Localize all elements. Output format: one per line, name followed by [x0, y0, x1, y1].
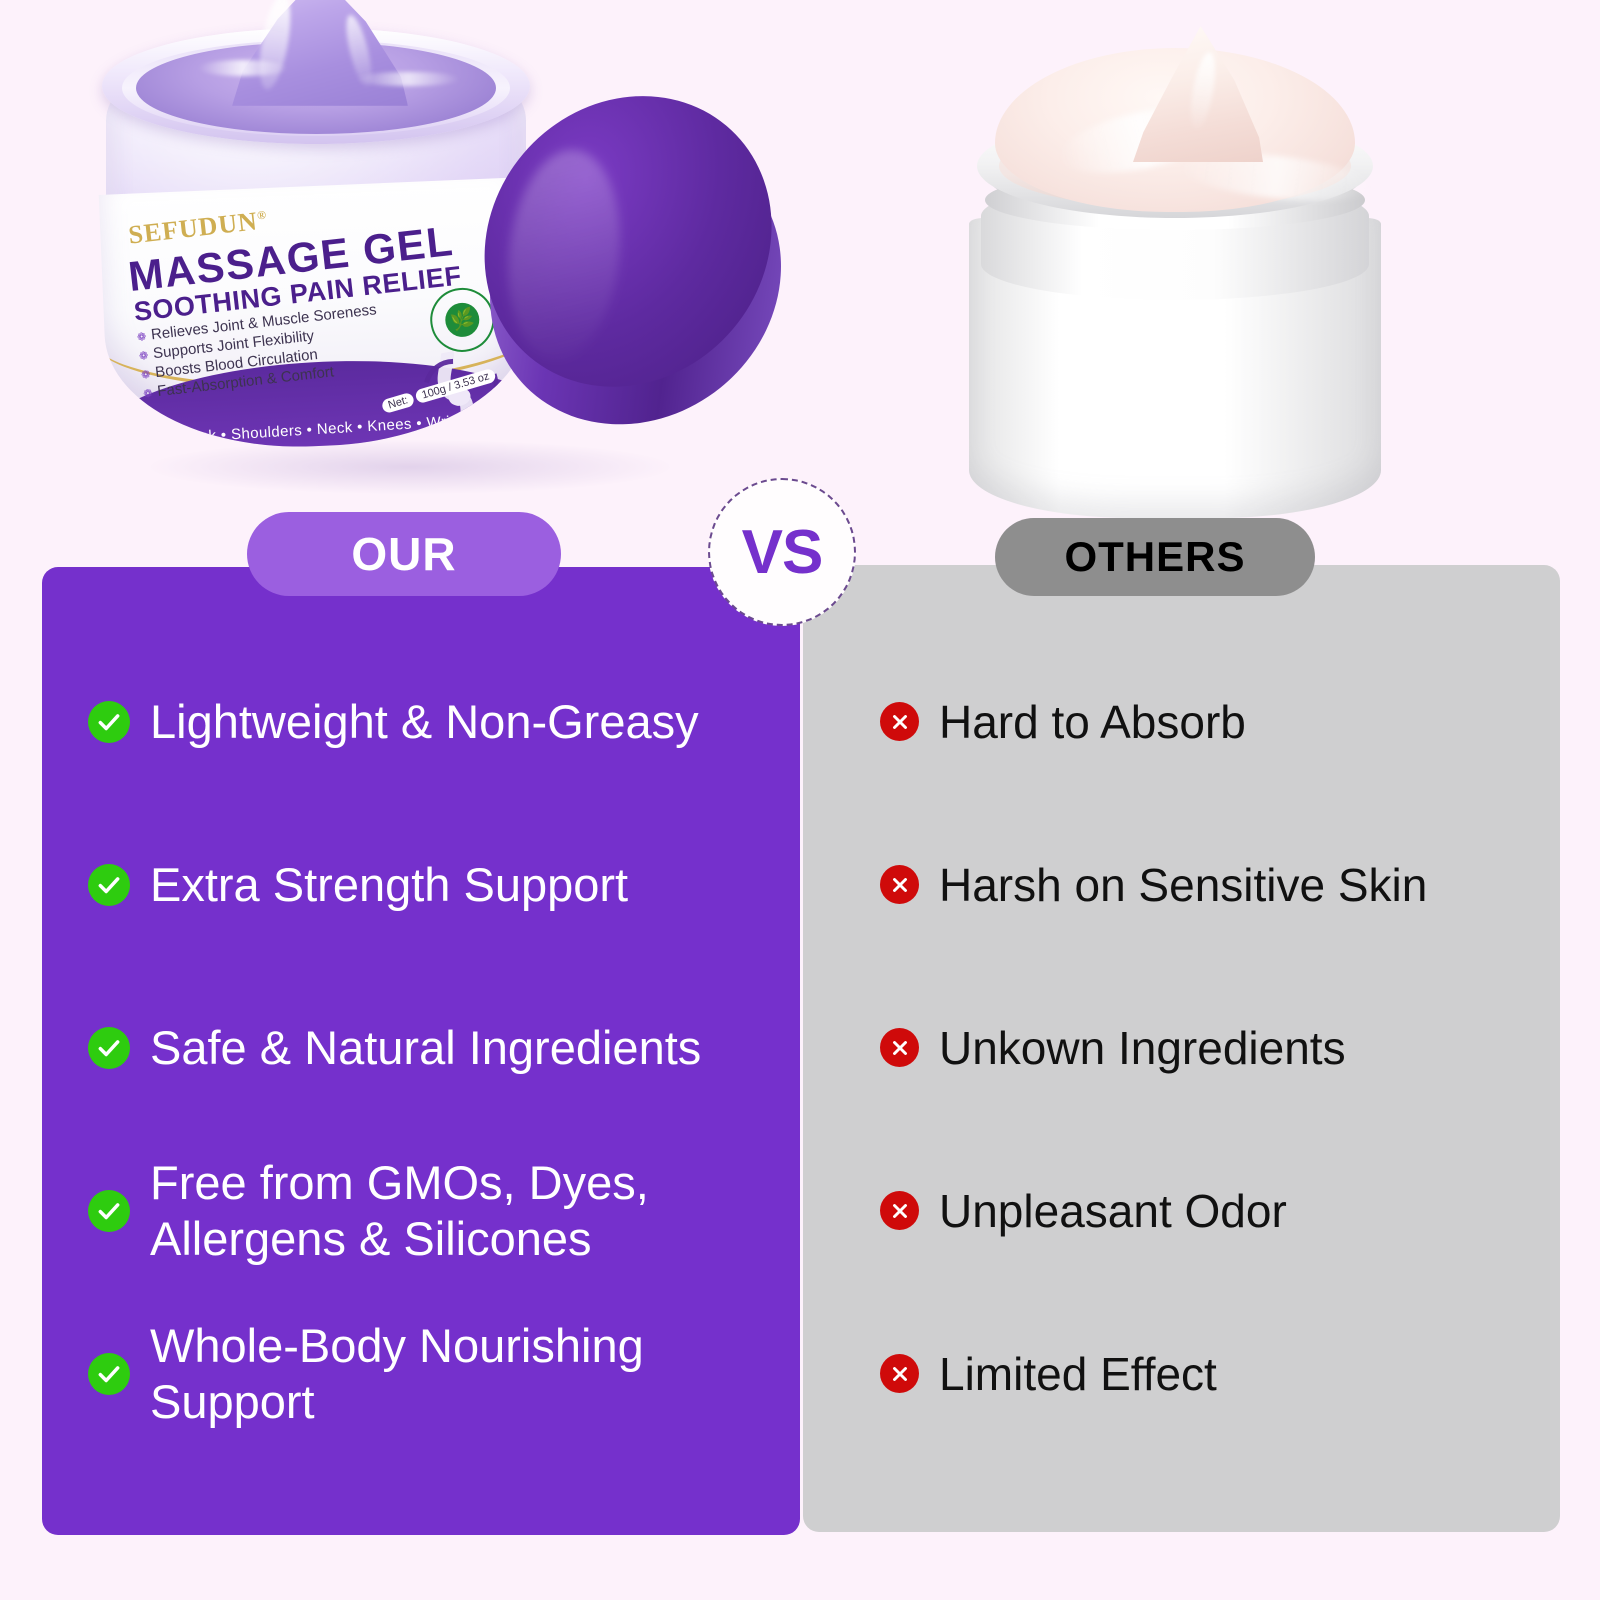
list-item: Hard to Absorb — [880, 640, 1540, 803]
check-circle-icon — [88, 701, 130, 743]
x-circle-icon — [880, 1191, 919, 1230]
x-circle-icon — [880, 1028, 919, 1067]
list-item: Unkown Ingredients — [880, 966, 1540, 1129]
list-item-label: Whole-Body Nourishing Support — [150, 1318, 710, 1430]
list-item-label: Lightweight & Non-Greasy — [150, 694, 699, 750]
list-item-label: Limited Effect — [939, 1346, 1217, 1402]
x-circle-icon — [880, 702, 919, 741]
others-badge: OTHERS — [995, 518, 1315, 596]
our-feature-list: Lightweight & Non-Greasy Extra Strength … — [88, 640, 778, 1455]
others-drawback-list: Hard to Absorb Harsh on Sensitive Skin U… — [880, 640, 1540, 1455]
list-item-label: Free from GMOs, Dyes, Allergens & Silico… — [150, 1155, 710, 1267]
list-item: Whole-Body Nourishing Support — [88, 1292, 778, 1455]
registered-mark: ® — [256, 207, 267, 222]
list-item: Unpleasant Odor — [880, 1129, 1540, 1292]
list-item: Harsh on Sensitive Skin — [880, 803, 1540, 966]
gel-highlight — [356, 72, 460, 86]
x-circle-icon — [880, 865, 919, 904]
our-badge: OUR — [247, 512, 561, 596]
x-circle-icon — [880, 1354, 919, 1393]
check-circle-icon — [88, 864, 130, 906]
list-item-label: Extra Strength Support — [150, 857, 628, 913]
list-item: Free from GMOs, Dyes, Allergens & Silico… — [88, 1129, 778, 1292]
check-circle-icon — [88, 1353, 130, 1395]
vs-divider-badge: VS — [708, 478, 856, 626]
list-item: Lightweight & Non-Greasy — [88, 640, 778, 803]
others-product-jar — [955, 30, 1395, 500]
list-item-label: Safe & Natural Ingredients — [150, 1020, 701, 1076]
gel-highlight — [198, 60, 288, 76]
check-circle-icon — [88, 1027, 130, 1069]
list-item: Safe & Natural Ingredients — [88, 966, 778, 1129]
list-item: Extra Strength Support — [88, 803, 778, 966]
leaf-icon: 🌿 — [442, 300, 483, 341]
list-item-label: Unkown Ingredients — [939, 1020, 1346, 1076]
list-item: Limited Effect — [880, 1292, 1540, 1455]
check-circle-icon — [88, 1190, 130, 1232]
gel-highlight — [254, 0, 296, 92]
purple-gel-content — [136, 42, 496, 134]
list-item-label: Hard to Absorb — [939, 694, 1246, 750]
comparison-infographic: SEFUDUN® MASSAGE GEL SOOTHING PAIN RELIE… — [0, 0, 1600, 1600]
list-item-label: Unpleasant Odor — [939, 1183, 1287, 1239]
list-item-label: Harsh on Sensitive Skin — [939, 857, 1427, 913]
